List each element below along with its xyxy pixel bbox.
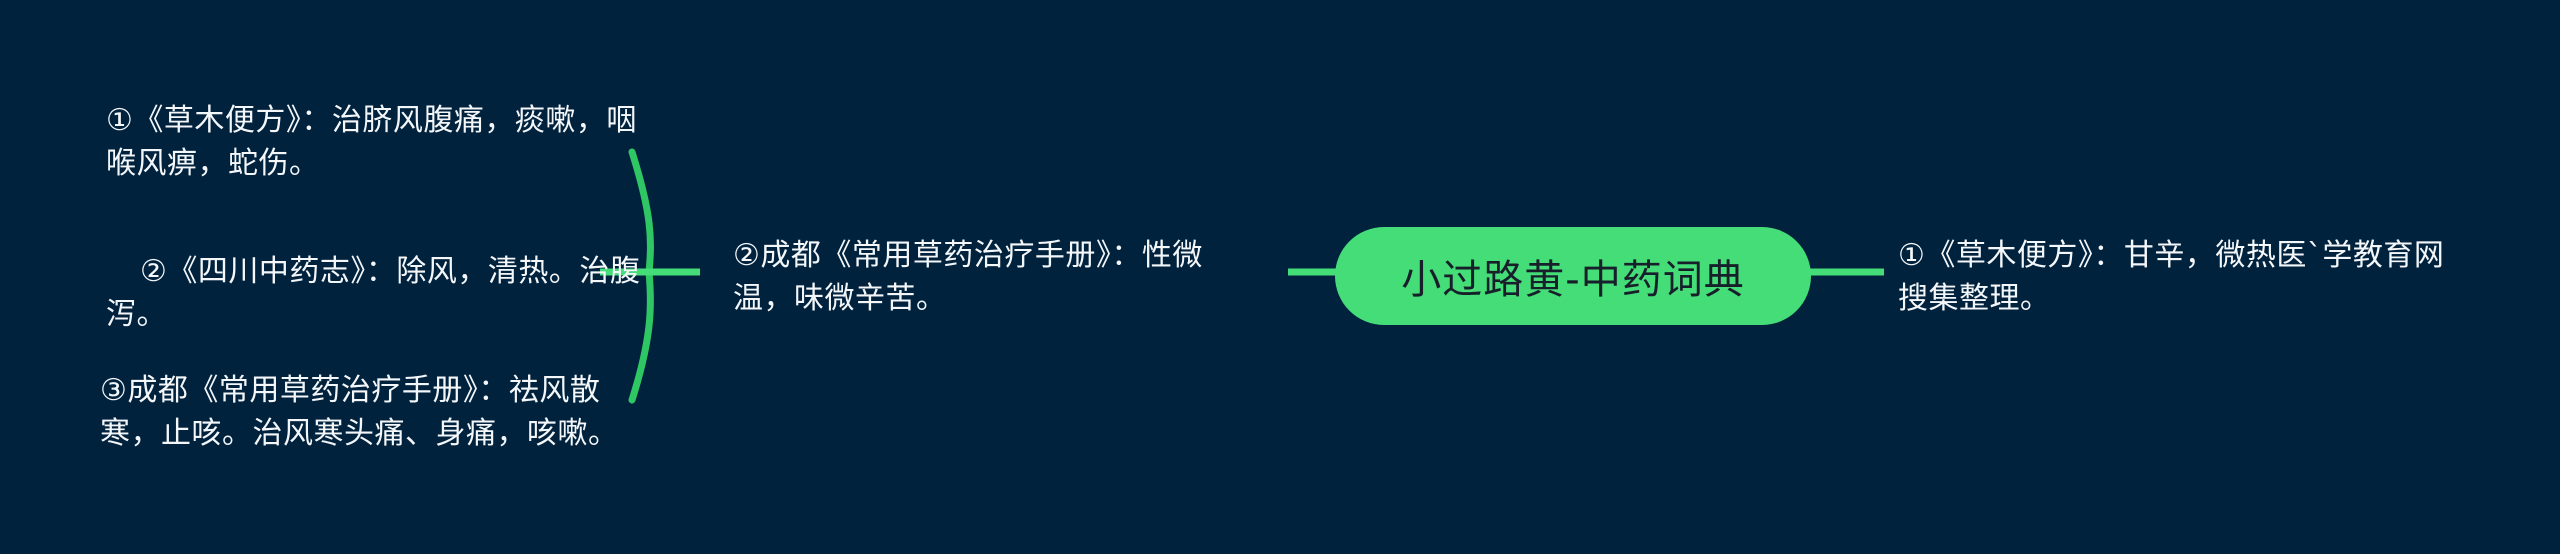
root-node-label: 小过路黄-中药词典 bbox=[1401, 247, 1744, 305]
leaf-node-left-1[interactable]: ①《草木便方》：治脐风腹痛，痰嗽，咽喉风痹，蛇伤。 bbox=[106, 100, 651, 185]
leaf-node-left-3[interactable]: ③成都《常用草药治疗手册》：祛风散寒，止咳。治风寒头痛、身痛，咳嗽。 bbox=[100, 370, 660, 455]
leaf-node-left-2[interactable]: ②《四川中药志》：除风，清热。治腹泻。 bbox=[106, 251, 651, 336]
root-node[interactable]: 小过路黄-中药词典 bbox=[1335, 227, 1811, 325]
leaf-node-middle[interactable]: ②成都《常用草药治疗手册》：性微温，味微辛苦。 bbox=[733, 235, 1253, 320]
leaf-node-right[interactable]: ①《草木便方》：甘辛，微热医`学教育网搜集整理。 bbox=[1898, 235, 2458, 320]
mindmap-canvas: ①《草木便方》：治脐风腹痛，痰嗽，咽喉风痹，蛇伤。 ②《四川中药志》：除风，清热… bbox=[0, 0, 2560, 554]
